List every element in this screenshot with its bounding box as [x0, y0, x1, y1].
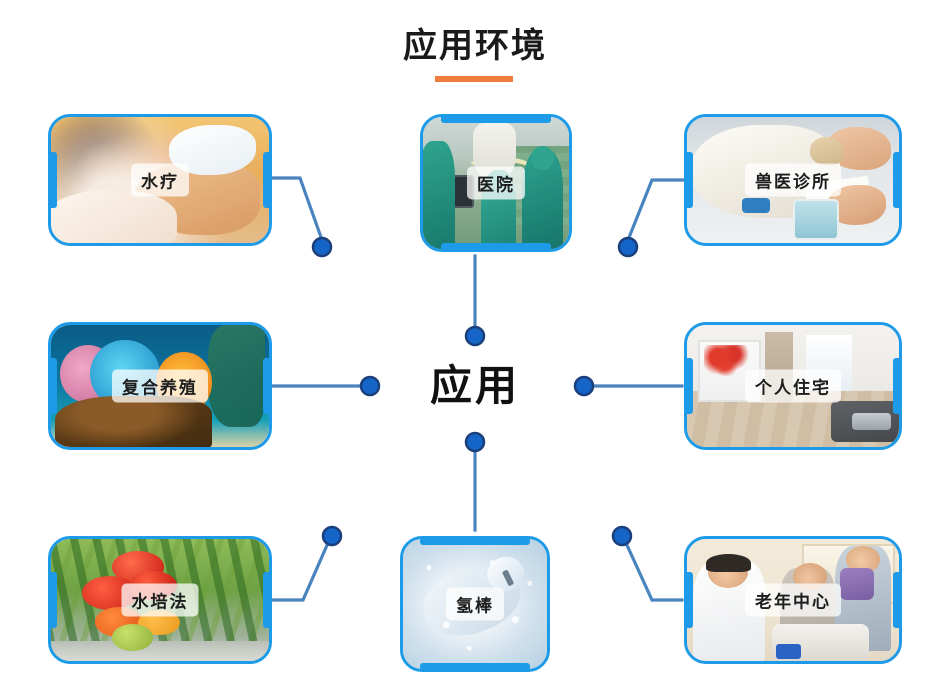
card-hospital-label: 医院 [467, 167, 525, 200]
card-hydroponics[interactable]: 水培法 [48, 536, 272, 664]
card-hospital[interactable]: 医院 [420, 114, 572, 252]
card-home-tab-left [684, 358, 693, 414]
card-home-tab-right [893, 358, 902, 414]
card-hydroponics-tab-left [48, 572, 57, 628]
card-aquaculture[interactable]: 复合养殖 [48, 322, 272, 450]
card-aquaculture-label: 复合养殖 [112, 370, 208, 403]
card-aquaculture-tab-left [48, 358, 57, 414]
card-spa-label: 水疗 [131, 164, 189, 197]
wire-hydro [270, 543, 328, 600]
card-vet-tab-left [684, 152, 693, 208]
card-hydrogen-rod-label: 氢棒 [446, 588, 504, 621]
card-hydroponics-label: 水培法 [122, 584, 199, 617]
card-hydrogen-rod[interactable]: 氢棒 [400, 536, 550, 672]
card-spa-tab-right [263, 152, 272, 208]
node-hydro [323, 527, 341, 545]
card-spa-tab-left [48, 152, 57, 208]
infographic-canvas: 应用环境 [0, 0, 950, 696]
card-hydroponics-tab-right [263, 572, 272, 628]
node-spa [313, 238, 331, 256]
card-hospital-tab-bottom [441, 243, 551, 252]
card-elderly-centre[interactable]: 老年中心 [684, 536, 902, 664]
card-hospital-tab-top [441, 114, 551, 123]
card-vet[interactable]: 兽医诊所 [684, 114, 902, 246]
card-vet-label: 兽医诊所 [745, 164, 841, 197]
node-hub-top [466, 327, 484, 345]
center-hub-label: 应用 [400, 352, 550, 413]
node-vet [619, 238, 637, 256]
card-aquaculture-tab-right [263, 358, 272, 414]
wire-elder [626, 543, 682, 600]
card-hydrogen-rod-tab-bottom [420, 663, 530, 672]
wire-spa [268, 178, 322, 240]
card-home-label: 个人住宅 [745, 370, 841, 403]
card-elderly-centre-tab-left [684, 572, 693, 628]
wire-vet [628, 180, 684, 240]
card-hydrogen-rod-tab-top [420, 536, 530, 545]
node-aqua [361, 377, 379, 395]
card-elderly-centre-tab-right [893, 572, 902, 628]
card-home[interactable]: 个人住宅 [684, 322, 902, 450]
node-hub-bottom [466, 433, 484, 451]
card-spa[interactable]: 水疗 [48, 114, 272, 246]
node-elder [613, 527, 631, 545]
node-home [575, 377, 593, 395]
card-elderly-centre-label: 老年中心 [745, 584, 841, 617]
card-vet-tab-right [893, 152, 902, 208]
